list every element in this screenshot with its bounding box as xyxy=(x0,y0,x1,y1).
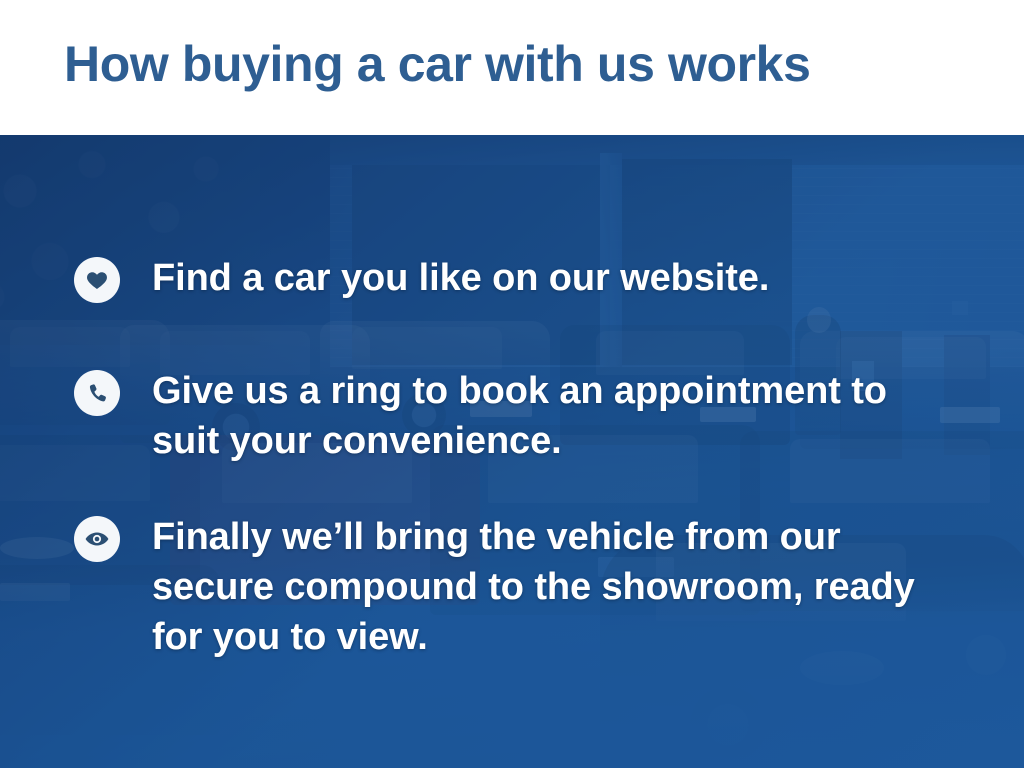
eye-icon xyxy=(74,516,120,562)
steps-list: Find a car you like on our website. Give… xyxy=(0,135,1024,768)
heart-icon xyxy=(74,257,120,303)
phone-icon xyxy=(74,370,120,416)
slide-canvas: Find a car you like on our website. Give… xyxy=(0,0,1024,768)
list-item-label: Finally we’ll bring the vehicle from our… xyxy=(152,512,962,662)
list-item-label: Find a car you like on our website. xyxy=(152,253,962,303)
header-band: How buying a car with us works xyxy=(0,0,1024,135)
background-photo: Find a car you like on our website. Give… xyxy=(0,135,1024,768)
list-item-label: Give us a ring to book an appointment to… xyxy=(152,366,962,466)
page-title: How buying a car with us works xyxy=(64,36,810,92)
